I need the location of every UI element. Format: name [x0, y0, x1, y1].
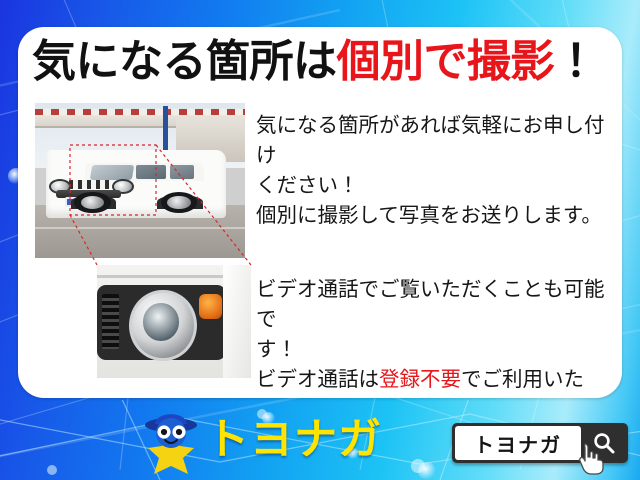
- vehicle-body: [46, 150, 227, 218]
- hand-cursor-icon: [576, 442, 606, 476]
- para2-line4: だけるツールを用意しております。: [256, 395, 612, 398]
- para2-line3: ビデオ通話は登録不要でご利用いた: [256, 365, 612, 395]
- para2-highlight: 登録不要: [379, 368, 461, 391]
- advertisement-banner: 気になる箇所は個別で撮影！: [0, 0, 640, 480]
- toyonaga-mascot-icon: [142, 406, 200, 476]
- para1-line1: 気になる箇所があれば気軽にお申し付け: [256, 111, 612, 171]
- detail-headlight-lens: [143, 303, 178, 340]
- vehicle-windshield: [89, 165, 133, 180]
- para1-line3: 個別に撮影して写真をお送りします。: [256, 201, 612, 231]
- para2-line1: ビデオ通話でご覧いただくことも可能で: [256, 275, 612, 335]
- page-title: 気になる箇所は個別で撮影！: [32, 36, 617, 88]
- vehicle-side-window: [136, 165, 167, 179]
- content-card: 気になる箇所は個別で撮影！: [18, 27, 622, 398]
- para2-line3-pre: ビデオ通話は: [256, 368, 379, 391]
- vehicle-rim-front: [81, 196, 105, 209]
- vehicle-wheel-rear: [161, 192, 197, 212]
- detail-turn-signal: [199, 294, 222, 319]
- detail-fender: [223, 265, 251, 378]
- para2-line2: す！: [256, 335, 612, 365]
- vehicle-photo-main: [35, 103, 245, 258]
- vehicle-rim-rear: [167, 196, 191, 209]
- para1-line2: ください！: [256, 171, 612, 201]
- vehicle-rear-window: [170, 165, 193, 179]
- brand-logo-text: トヨナガ: [206, 414, 382, 466]
- copy-spacer: [256, 231, 612, 275]
- photo-canopy-trim: [35, 109, 245, 114]
- search-input[interactable]: トヨナガ: [455, 426, 581, 460]
- body-copy: 気になる箇所があれば気軽にお申し付け ください！ 個別に撮影して写真をお送りしま…: [256, 111, 612, 398]
- headline-highlight: 個別で撮影: [337, 37, 555, 86]
- para2-line3-post: でご利用いた: [461, 368, 584, 391]
- headline-part-3: ！: [554, 37, 598, 86]
- vehicle-photo-detail: [97, 265, 251, 378]
- vehicle-wheel-front: [74, 192, 110, 212]
- headline-part-1: 気になる箇所は: [32, 37, 337, 86]
- detail-vent: [102, 294, 119, 348]
- photo-ground-line: [35, 227, 245, 229]
